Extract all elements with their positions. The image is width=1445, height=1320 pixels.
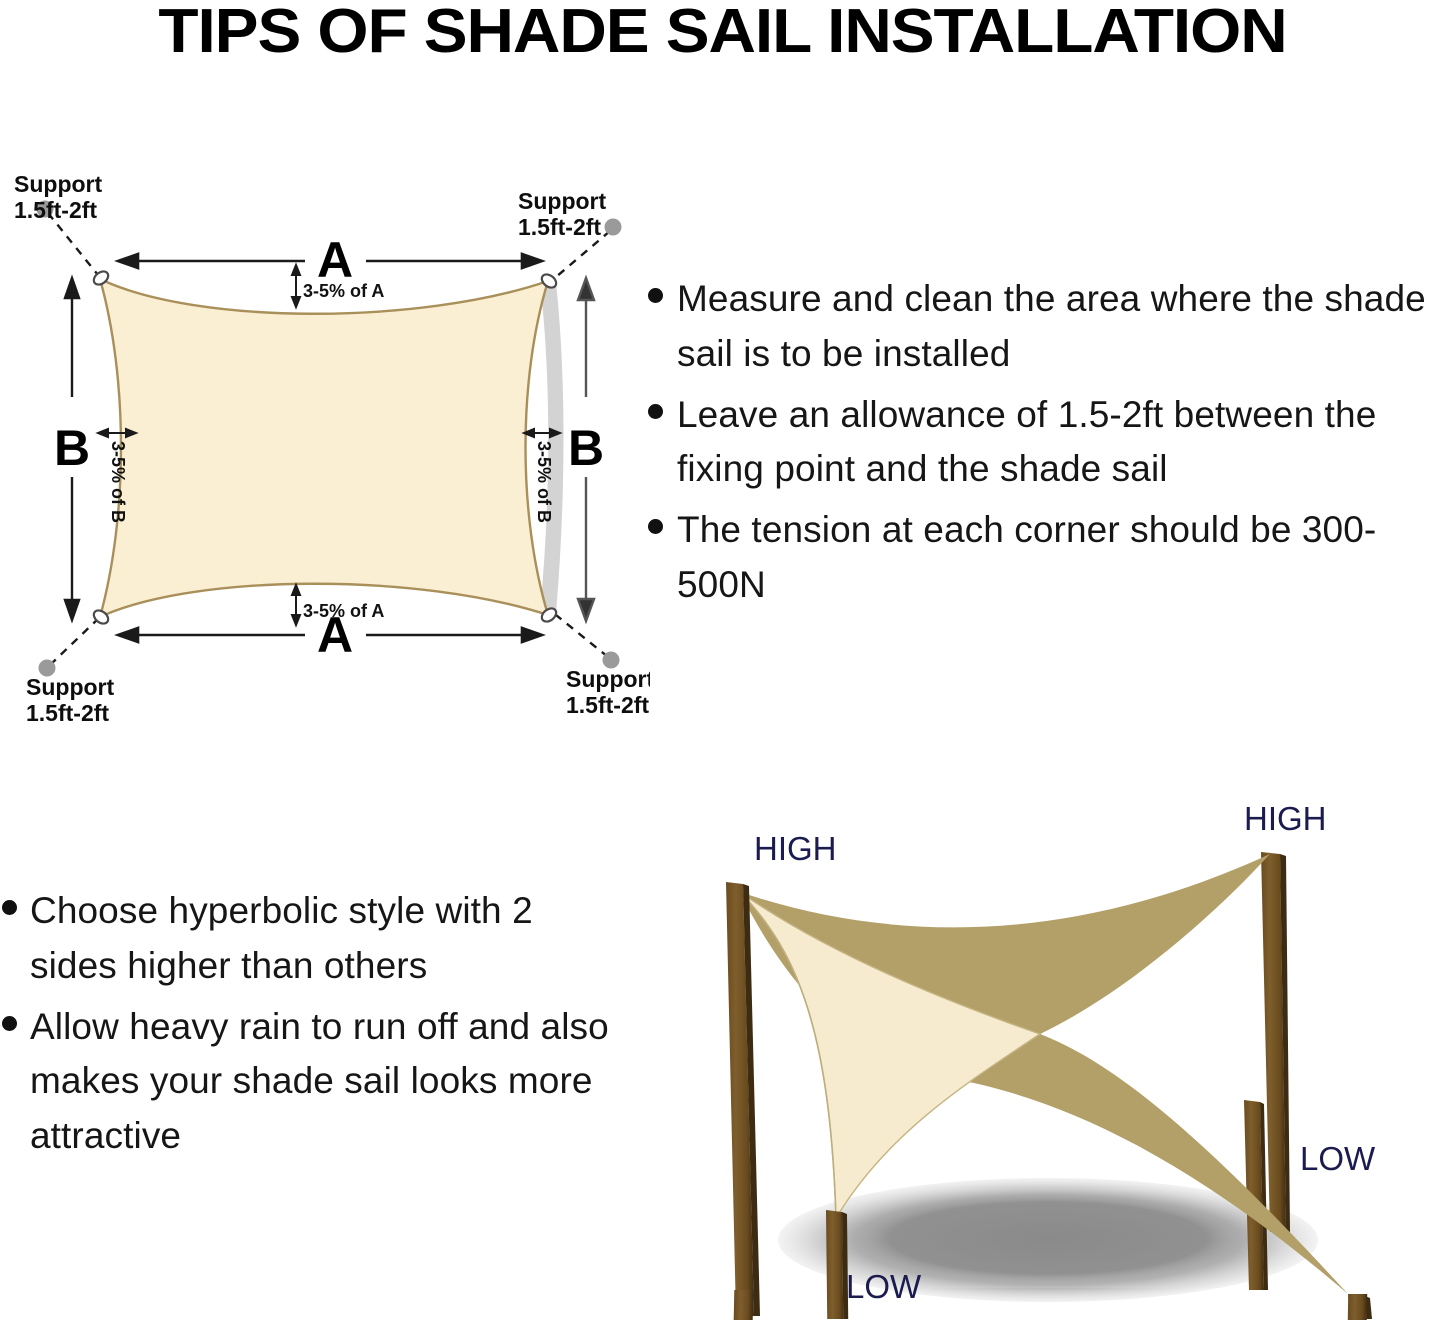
tip-text: The tension at each corner should be 300…	[677, 503, 1445, 613]
tips-list-left: Choose hyperbolic style with 2 sides hig…	[2, 884, 622, 1170]
curve-depth-top-arrow	[292, 265, 300, 307]
list-item: Measure and clean the area where the sha…	[648, 272, 1445, 382]
tip-text: Leave an allowance of 1.5-2ft between th…	[677, 388, 1445, 498]
dim-label-a-top: A	[317, 232, 353, 288]
sail-shape	[100, 279, 548, 617]
tip-text: Choose hyperbolic style with 2 sides hig…	[30, 884, 622, 994]
curve-depth-label-right: 3-5% of B	[534, 441, 554, 523]
list-item: Choose hyperbolic style with 2 sides hig…	[2, 884, 622, 994]
label-low-right-overlay: LOW	[1300, 1140, 1375, 1178]
pole-high-left	[726, 882, 760, 1316]
curve-depth-right-arrow	[524, 429, 560, 437]
support-label-bottom-left-line1: Support	[26, 674, 114, 700]
bullet-dot-icon	[2, 1016, 17, 1031]
bullet-dot-icon	[2, 900, 17, 915]
list-item: Leave an allowance of 1.5-2ft between th…	[648, 388, 1445, 498]
curve-depth-label-bottom: 3-5% of A	[303, 601, 384, 621]
label-high-left: HIGH	[754, 830, 837, 867]
curve-depth-bottom-arrow	[292, 585, 300, 625]
curve-depth-label-left: 3-5% of B	[108, 441, 128, 523]
support-label-top-right-line2: 1.5ft-2ft	[518, 214, 601, 240]
dim-label-b-right: B	[568, 420, 604, 476]
support-label-bottom-right-line1: Support	[566, 666, 650, 692]
list-item: Allow heavy rain to run off and also mak…	[2, 1000, 622, 1164]
infographic-page: TIPS OF SHADE SAIL INSTALLATION	[0, 0, 1445, 1319]
support-label-top-right-line1: Support	[518, 188, 606, 214]
curve-depth-label-top: 3-5% of A	[303, 281, 384, 301]
support-dot-top-right	[605, 219, 622, 236]
tip-text: Measure and clean the area where the sha…	[677, 272, 1445, 382]
hyperbolic-sail-diagram: HIGH HIGH LOW LOW	[648, 782, 1445, 1319]
tip-text: Allow heavy rain to run off and also mak…	[30, 1000, 622, 1164]
curve-depth-left-arrow	[98, 429, 136, 437]
pole-low-right-extension	[1348, 1294, 1367, 1320]
dim-label-b-left: B	[54, 420, 90, 476]
list-item: The tension at each corner should be 300…	[648, 503, 1445, 613]
bullet-dot-icon	[648, 288, 663, 303]
support-label-top-left-line2: 1.5ft-2ft	[14, 197, 97, 223]
rectangular-sail-diagram: A 3-5% of A A 3-5% of A B	[0, 165, 650, 725]
support-label-bottom-right-line2: 1.5ft-2ft	[566, 692, 649, 718]
support-label-bottom-left-line2: 1.5ft-2ft	[26, 700, 109, 725]
label-low-right-text: LOW	[1300, 1140, 1375, 1177]
page-title: TIPS OF SHADE SAIL INSTALLATION	[0, 0, 1445, 67]
bullet-dot-icon	[648, 404, 663, 419]
label-high-right: HIGH	[1244, 800, 1327, 837]
bullet-dot-icon	[648, 519, 663, 534]
tips-list-right: Measure and clean the area where the sha…	[648, 272, 1445, 619]
pole-high-left-extension	[734, 1290, 754, 1320]
support-label-top-left-line1: Support	[14, 171, 102, 197]
label-low-left: LOW	[846, 1268, 922, 1305]
